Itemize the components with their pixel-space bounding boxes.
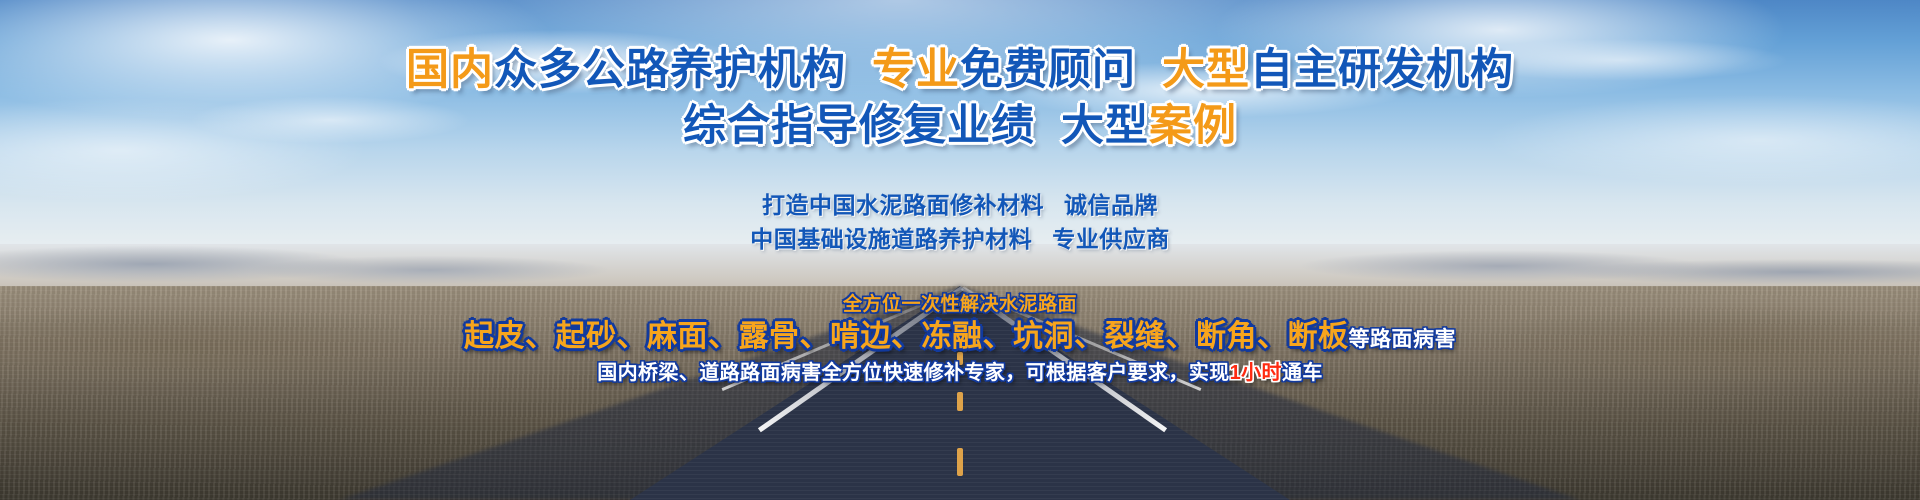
headline-seg-guonei: 国内 bbox=[406, 46, 494, 94]
subhead-line-1: 打造中国水泥路面修补材料诚信品牌 bbox=[0, 190, 1920, 220]
promo-banner: 国内众多公路养护机构专业免费顾问大型自主研发机构 综合指导修复业绩大型案例 打造… bbox=[0, 0, 1920, 500]
subhead-trust-brand: 诚信品牌 bbox=[1064, 192, 1158, 218]
headline-seg-zhongduo: 众多公路养护机构 bbox=[494, 46, 846, 94]
footer-tagline-small: 全方位一次性解决水泥路面 bbox=[0, 293, 1920, 317]
headline-seg-anli: 案例 bbox=[1149, 102, 1237, 150]
footer-promise-line: 国内桥梁、道路路面病害全方位快速修补专家，可根据客户要求，实现1小时通车 bbox=[0, 360, 1920, 386]
footer-defect-names: 起皮、起砂、麻面、露骨、啃边、冻融、坑洞、裂缝、断角、断板 bbox=[464, 320, 1349, 353]
headline-seg-zonghe: 综合指导修复业绩 bbox=[683, 102, 1035, 150]
subhead-supplier: 专业供应商 bbox=[1052, 226, 1170, 252]
subhead-brand-material: 打造中国水泥路面修补材料 bbox=[762, 192, 1044, 218]
road-center-dash bbox=[957, 392, 963, 411]
footer-promise-prefix: 国内桥梁、道路路面病害全方位快速修补专家，可根据客户要求，实现 bbox=[597, 362, 1229, 384]
subhead-line-2: 中国基础设施道路养护材料专业供应商 bbox=[0, 224, 1920, 254]
headline-seg-zizhu: 自主研发机构 bbox=[1250, 46, 1514, 94]
footer-defect-list: 起皮、起砂、麻面、露骨、啃边、冻融、坑洞、裂缝、断角、断板等路面病害 bbox=[0, 318, 1920, 359]
headline-seg-zhuanye: 专业 bbox=[872, 46, 960, 94]
subhead-infrastructure-material: 中国基础设施道路养护材料 bbox=[750, 226, 1032, 252]
headline-line-2: 综合指导修复业绩大型案例 bbox=[0, 100, 1920, 152]
headline-seg-daxing: 大型 bbox=[1162, 46, 1250, 94]
footer-promise-hour: 1小时 bbox=[1230, 362, 1282, 384]
footer-defect-suffix: 等路面病害 bbox=[1349, 328, 1457, 351]
road-center-dash bbox=[957, 448, 963, 476]
headline-seg-daxing2: 大型 bbox=[1061, 102, 1149, 150]
headline-seg-mianfei: 免费顾问 bbox=[960, 46, 1136, 94]
headline-line-1: 国内众多公路养护机构专业免费顾问大型自主研发机构 bbox=[0, 44, 1920, 96]
footer-promise-suffix: 通车 bbox=[1282, 362, 1323, 384]
